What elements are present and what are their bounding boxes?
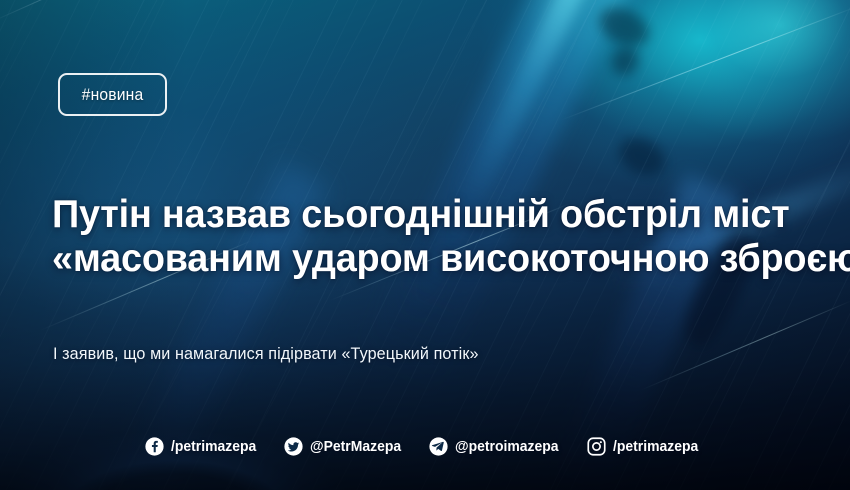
headline-line-1: Путін назвав сьогоднішній обстріл міст <box>52 193 770 237</box>
social-link-twitter[interactable]: @PetrMazepa <box>284 437 408 456</box>
facebook-icon <box>145 437 164 456</box>
telegram-icon <box>429 437 448 456</box>
social-link-facebook[interactable]: /petrimazepa <box>145 437 263 456</box>
twitter-icon <box>284 437 303 456</box>
social-handle-facebook: /petrimazepa <box>171 438 256 455</box>
social-handle-instagram: /petrimazepa <box>613 438 698 455</box>
news-tag-badge[interactable]: #новина <box>58 73 167 116</box>
news-tag-label: #новина <box>82 85 144 105</box>
social-link-instagram[interactable]: /petrimazepa <box>587 437 705 456</box>
instagram-icon <box>587 437 606 456</box>
news-card: #новина Путін назвав сьогоднішній обстрі… <box>0 0 850 490</box>
social-link-telegram[interactable]: @petroimazepa <box>429 437 566 456</box>
headline-line-2: «масованим ударом високоточною зброєю» <box>52 237 770 281</box>
social-handle-twitter: @PetrMazepa <box>310 438 401 455</box>
social-handle-telegram: @petroimazepa <box>455 438 559 455</box>
headline: Путін назвав сьогоднішній обстріл міст «… <box>52 193 792 281</box>
social-bar: /petrimazepa @PetrMazepa @petroimazepa <box>0 437 850 456</box>
subtitle: І заявив, що ми намагалися підірвати «Ту… <box>53 344 479 364</box>
